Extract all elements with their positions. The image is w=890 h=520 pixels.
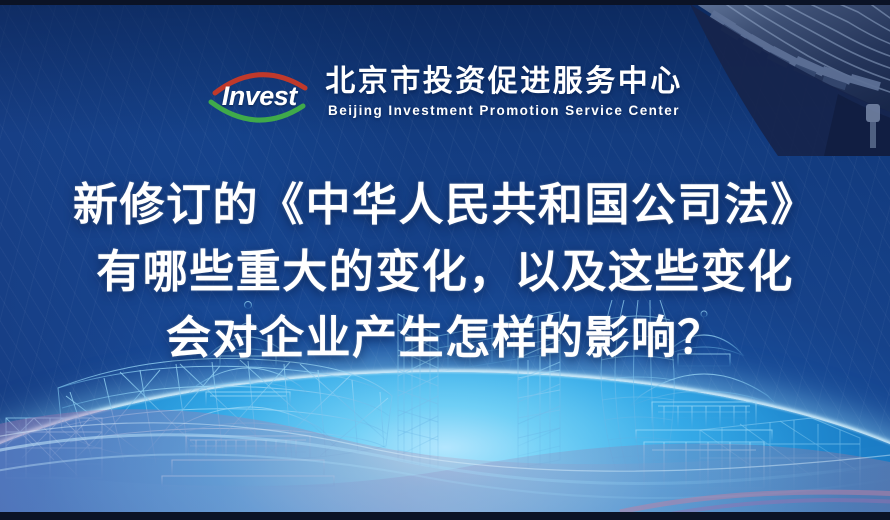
ribbon-waves [0, 360, 890, 520]
headline-line-2: 有哪些重大的变化，以及这些变化 [0, 239, 890, 306]
letterbox-bar-top [0, 0, 890, 5]
promotional-poster: Invest 北京市投资促进服务中心 Beijing Investment Pr… [0, 0, 890, 520]
letterbox-bar-bottom [0, 512, 890, 520]
org-name-cn: 北京市投资促进服务中心 [325, 66, 683, 98]
brand-header: Invest 北京市投资促进服务中心 Beijing Investment Pr… [0, 66, 890, 126]
invest-logo-mark: Invest [207, 66, 311, 126]
org-name-en: Beijing Investment Promotion Service Cen… [328, 103, 680, 118]
headline-line-1: 新修订的《中华人民共和国公司法》 [0, 172, 890, 239]
headline-block: 新修订的《中华人民共和国公司法》 有哪些重大的变化，以及这些变化 会对企业产生怎… [0, 172, 890, 372]
headline-line-3: 会对企业产生怎样的影响？ [0, 305, 890, 372]
org-names: 北京市投资促进服务中心 Beijing Investment Promotion… [325, 66, 683, 118]
logo-wordmark: Invest [209, 83, 309, 110]
